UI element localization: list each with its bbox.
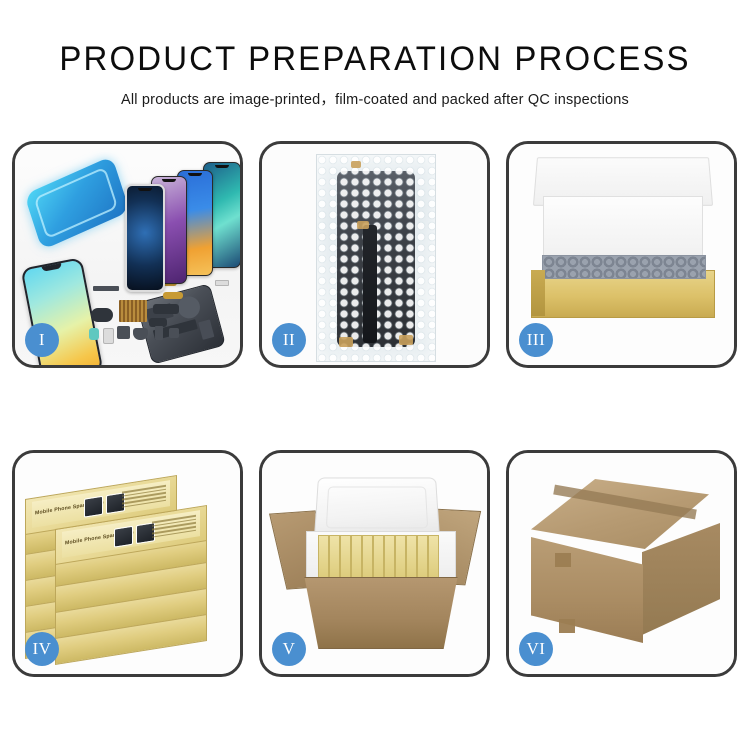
tape-piece-icon-1: [351, 161, 361, 168]
step-card-2: II: [259, 141, 490, 368]
carton-tape-patch-2: [559, 619, 575, 633]
flex-cable-icon-2: [153, 304, 179, 314]
flex-cable-icon: [91, 308, 113, 322]
shipping-carton-front: [531, 537, 643, 643]
foam-box-lid: [314, 478, 440, 539]
step-badge-2: II: [272, 323, 306, 357]
product-preparation-page: PRODUCT PREPARATION PROCESS All products…: [0, 0, 750, 750]
step-card-5: V: [259, 450, 490, 677]
retail-box-stack: Mobile Phone Spare Parts Mobile Phone Sp…: [23, 467, 239, 667]
outer-carton-body: [294, 577, 468, 649]
screen-flex-cable-icon: [363, 225, 377, 343]
label-feature-lines-2: [152, 515, 196, 542]
step-card-6: VI: [506, 450, 737, 677]
inner-box-tray: [531, 270, 715, 318]
page-title: PRODUCT PREPARATION PROCESS: [11, 0, 739, 78]
carton-tape-patch-1: [555, 553, 571, 567]
inner-box-tray-side: [531, 270, 545, 316]
tweezers-icon: [215, 280, 229, 286]
tape-piece-icon-4: [399, 335, 413, 345]
phone-fan-group: [123, 158, 243, 286]
gold-bracket-icon: [163, 292, 183, 299]
camera-module-icon: [117, 326, 130, 339]
step-card-1: I: [12, 141, 243, 368]
chip-icon: [169, 328, 179, 338]
screw-set-icon: [155, 326, 163, 340]
step-badge-1: I: [25, 323, 59, 357]
process-steps-grid: I II: [12, 141, 738, 677]
blue-lcd-frame-icon: [24, 156, 130, 251]
label-feature-lines-1: [122, 485, 166, 512]
step-badge-5: V: [272, 632, 306, 666]
vibrator-icon: [133, 328, 148, 340]
step-card-3: III: [506, 141, 737, 368]
step-card-4: Mobile Phone Spare Parts Mobile Phone Sp…: [12, 450, 243, 677]
tape-piece-icon-3: [339, 337, 353, 347]
sim-tray-icon: [103, 328, 114, 344]
page-subtitle: All products are image-printed，film-coat…: [0, 78, 750, 109]
tape-piece-icon-2: [357, 221, 369, 229]
packed-yellow-boxes: [318, 535, 442, 577]
step-badge-4: IV: [25, 632, 59, 666]
step-badge-3: III: [519, 323, 553, 357]
step-badge-6: VI: [519, 632, 553, 666]
label-screen-image-3: [114, 526, 133, 548]
earpiece-part-icon: [93, 286, 119, 291]
label-screen-image-1: [84, 496, 103, 518]
battery-connector-icon: [89, 328, 99, 340]
phone-icon-1: [125, 184, 165, 292]
page-header: PRODUCT PREPARATION PROCESS All products…: [0, 0, 750, 109]
logic-board-icon: [119, 300, 147, 322]
bubble-wrap-bag: [316, 154, 436, 362]
